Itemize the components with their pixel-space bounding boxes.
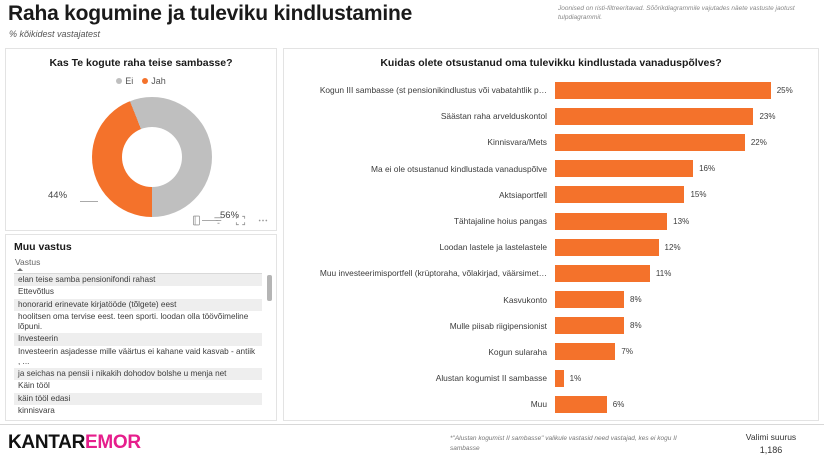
legend-dot-ei bbox=[116, 78, 122, 84]
bar-category-label: Kasvukonto bbox=[284, 295, 555, 305]
bar-fill[interactable] bbox=[555, 291, 624, 308]
bar-chart-row[interactable]: Kogun III sambasse (st pensionikindlustu… bbox=[284, 77, 820, 103]
bar-category-label: Alustan kogumist II sambasse bbox=[284, 373, 555, 383]
footer-footnote: *"Alustan kogumist II sambasse" valikule… bbox=[450, 434, 690, 454]
list-scrollbar-thumb[interactable] bbox=[267, 275, 272, 301]
list-item[interactable]: Investeerin asjadesse mille väärtus ei k… bbox=[14, 346, 262, 369]
bar-category-label: Muu investeerimisportfell (krüptoraha, v… bbox=[284, 268, 555, 278]
more-options-icon[interactable] bbox=[257, 215, 269, 226]
bar-category-label: Tähtajaline hoius pangas bbox=[284, 216, 555, 226]
list-item[interactable]: elan teise samba pensionifondi rahast bbox=[14, 274, 262, 286]
bar-fill[interactable] bbox=[555, 239, 659, 256]
page-title: Raha kogumine ja tuleviku kindlustamine bbox=[8, 2, 412, 26]
legend-dot-jah bbox=[142, 78, 148, 84]
visual-header-actions[interactable] bbox=[191, 215, 269, 226]
bar-category-label: Kinnisvara/Mets bbox=[284, 137, 555, 147]
bar-chart-row[interactable]: Ma ei ole otsustanud kindlustada vanadus… bbox=[284, 156, 820, 182]
bar-fill[interactable] bbox=[555, 396, 607, 413]
list-item[interactable]: hoolitsen oma tervise eest. teen sporti.… bbox=[14, 311, 262, 334]
bar-chart-row[interactable]: Alustan kogumist II sambasse1% bbox=[284, 365, 820, 391]
bar-value-label: 7% bbox=[621, 347, 633, 356]
bar-category-label: Muu bbox=[284, 399, 555, 409]
bar-track: 22% bbox=[555, 129, 820, 155]
bar-fill[interactable] bbox=[555, 82, 771, 99]
other-answers-list[interactable]: elan teise samba pensionifondi rahastEtt… bbox=[14, 274, 270, 417]
bar-chart-row[interactable]: Kinnisvara/Mets22% bbox=[284, 129, 820, 155]
table-column-header-vastus[interactable]: Vastus bbox=[15, 257, 40, 267]
legend-label-jah: Jah bbox=[151, 76, 166, 86]
sample-size-value: 1,186 bbox=[728, 444, 814, 458]
bar-value-label: 12% bbox=[665, 243, 681, 252]
donut-chart[interactable] bbox=[92, 97, 212, 217]
bar-track: 12% bbox=[555, 234, 820, 260]
filter-icon[interactable] bbox=[213, 215, 224, 226]
list-item[interactable]: ja seichas na pensii i nikakih dohodov b… bbox=[14, 368, 262, 380]
kantar-emor-logo: KANTAREMOR bbox=[8, 432, 141, 454]
bar-track: 13% bbox=[555, 208, 820, 234]
bar-value-label: 6% bbox=[613, 400, 625, 409]
logo-emor-text: EMOR bbox=[85, 432, 141, 453]
bar-chart-row[interactable]: Muu investeerimisportfell (krüptoraha, v… bbox=[284, 260, 820, 286]
bar-track: 11% bbox=[555, 260, 820, 286]
bar-category-label: Mulle piisab riigipensionist bbox=[284, 321, 555, 331]
header-instruction-note: Joonised on risti-filtreeritavad. Sõõrik… bbox=[558, 4, 820, 23]
bar-track: 1% bbox=[555, 365, 820, 391]
bar-chart-row[interactable]: Mulle piisab riigipensionist8% bbox=[284, 313, 820, 339]
bar-track: 6% bbox=[555, 391, 820, 417]
legend-item-jah[interactable]: Jah bbox=[142, 76, 166, 86]
bar-chart-row[interactable]: Säästan raha arvelduskontol23% bbox=[284, 103, 820, 129]
bar-track: 23% bbox=[555, 103, 820, 129]
sample-size-label: Valimi suurus bbox=[728, 431, 814, 444]
legend-item-ei[interactable]: Ei bbox=[116, 76, 133, 86]
bar-track: 8% bbox=[555, 313, 820, 339]
bar-track: 25% bbox=[555, 77, 820, 103]
sort-ascending-icon[interactable] bbox=[17, 268, 23, 271]
bar-value-label: 8% bbox=[630, 295, 642, 304]
bar-value-label: 13% bbox=[673, 217, 689, 226]
bar-fill[interactable] bbox=[555, 186, 684, 203]
donut-hole bbox=[122, 127, 182, 187]
page-footer: KANTAREMOR *"Alustan kogumist II sambass… bbox=[0, 424, 824, 463]
bar-value-label: 16% bbox=[699, 164, 715, 173]
bar-fill[interactable] bbox=[555, 160, 693, 177]
bar-track: 15% bbox=[555, 182, 820, 208]
list-item[interactable]: Käin tööl bbox=[14, 380, 262, 392]
bar-fill[interactable] bbox=[555, 343, 615, 360]
logo-kantar-text: KANTAR bbox=[8, 432, 85, 453]
mobile-layout-icon[interactable] bbox=[191, 215, 202, 226]
bar-track: 8% bbox=[555, 287, 820, 313]
bar-category-label: Kogun III sambasse (st pensionikindlustu… bbox=[284, 85, 555, 95]
donut-chart-panel[interactable]: Kas Te kogute raha teise sambasse? Ei Ja… bbox=[5, 48, 277, 231]
list-item[interactable]: honorarid erinevate kirjatööde (tõlgete)… bbox=[14, 299, 262, 311]
other-answers-panel[interactable]: Muu vastus Vastus elan teise samba pensi… bbox=[5, 234, 277, 421]
page-header: Raha kogumine ja tuleviku kindlustamine … bbox=[0, 0, 824, 46]
bar-chart-row[interactable]: Kogun sularaha7% bbox=[284, 339, 820, 365]
bar-fill[interactable] bbox=[555, 213, 667, 230]
bar-chart-row[interactable]: Tähtajaline hoius pangas13% bbox=[284, 208, 820, 234]
bar-chart-title: Kuidas olete otsustanud oma tulevikku ki… bbox=[284, 57, 818, 69]
bar-category-label: Loodan lastele ja lastelastele bbox=[284, 242, 555, 252]
bar-fill[interactable] bbox=[555, 317, 624, 334]
bar-value-label: 23% bbox=[759, 112, 775, 121]
donut-leader-line-left bbox=[80, 201, 98, 202]
bar-chart-row[interactable]: Loodan lastele ja lastelastele12% bbox=[284, 234, 820, 260]
bar-fill[interactable] bbox=[555, 108, 753, 125]
legend-label-ei: Ei bbox=[125, 76, 133, 86]
focus-mode-icon[interactable] bbox=[235, 215, 246, 226]
donut-legend: Ei Jah bbox=[6, 76, 276, 86]
donut-chart-title: Kas Te kogute raha teise sambasse? bbox=[6, 57, 276, 69]
list-item[interactable]: Investeerin bbox=[14, 333, 262, 345]
bar-chart-row[interactable]: Aktsiaportfell15% bbox=[284, 182, 820, 208]
bar-value-label: 1% bbox=[570, 374, 582, 383]
other-answers-title: Muu vastus bbox=[14, 241, 72, 253]
page-subtitle: % kõikidest vastajatest bbox=[9, 29, 100, 39]
list-item[interactable]: käin tööl edasi bbox=[14, 393, 262, 405]
donut-value-label-jah: 44% bbox=[48, 190, 67, 201]
bar-track: 7% bbox=[555, 339, 820, 365]
bar-track: 16% bbox=[555, 156, 820, 182]
bar-category-label: Ma ei ole otsustanud kindlustada vanadus… bbox=[284, 164, 555, 174]
bar-fill[interactable] bbox=[555, 370, 564, 387]
list-item[interactable]: kinnisvara bbox=[14, 405, 262, 417]
bar-category-label: Kogun sularaha bbox=[284, 347, 555, 357]
bar-category-label: Aktsiaportfell bbox=[284, 190, 555, 200]
bar-fill[interactable] bbox=[555, 265, 650, 282]
bar-value-label: 22% bbox=[751, 138, 767, 147]
bar-fill[interactable] bbox=[555, 134, 745, 151]
bar-chart-plot-area: Kogun III sambasse (st pensionikindlustu… bbox=[284, 77, 820, 420]
bar-value-label: 8% bbox=[630, 321, 642, 330]
bar-chart-row[interactable]: Muu6% bbox=[284, 391, 820, 417]
bar-chart-panel[interactable]: Kuidas olete otsustanud oma tulevikku ki… bbox=[283, 48, 819, 421]
bar-chart-row[interactable]: Kasvukonto8% bbox=[284, 287, 820, 313]
bar-category-label: Säästan raha arvelduskontol bbox=[284, 111, 555, 121]
sample-size-box: Valimi suurus 1,186 bbox=[728, 431, 814, 458]
list-item[interactable]: Ettevõtlus bbox=[14, 286, 262, 298]
bar-value-label: 25% bbox=[777, 86, 793, 95]
bar-value-label: 15% bbox=[690, 190, 706, 199]
bar-value-label: 11% bbox=[656, 269, 671, 278]
